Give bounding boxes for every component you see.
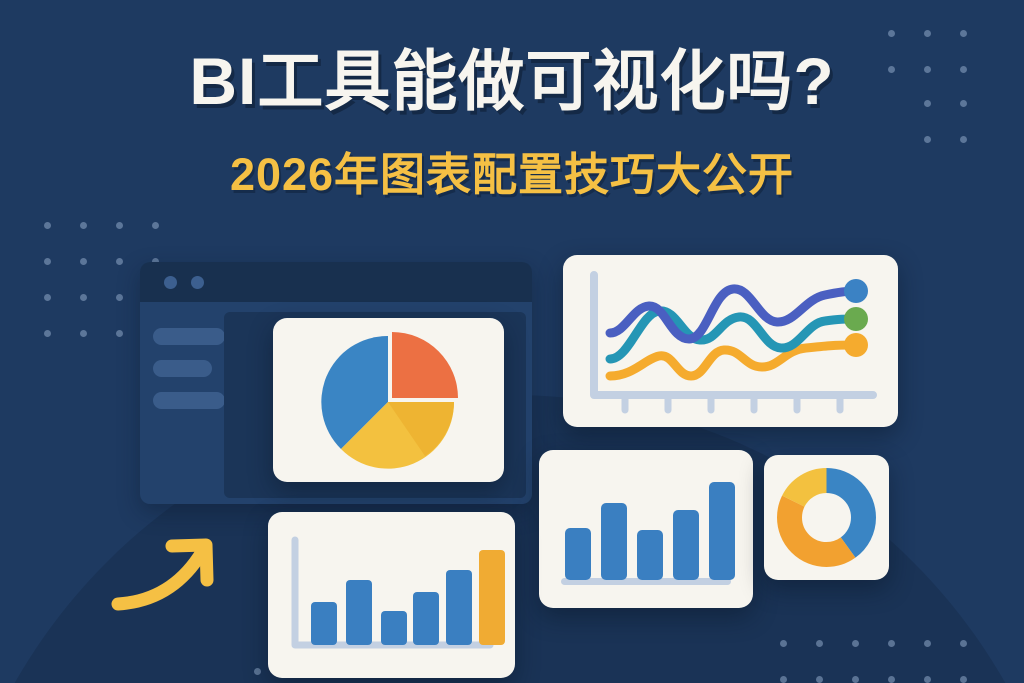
bar bbox=[637, 530, 663, 580]
chart-xticks bbox=[625, 398, 840, 410]
decor-dot bbox=[80, 294, 87, 301]
bar bbox=[673, 510, 699, 580]
decor-dot bbox=[924, 640, 931, 647]
sidebar-placeholder-line bbox=[153, 328, 225, 345]
donut-chart bbox=[764, 455, 889, 580]
window-dot-icon bbox=[164, 276, 177, 289]
bar-highlighted bbox=[479, 550, 505, 645]
decor-dot bbox=[80, 258, 87, 265]
arrow-shaft bbox=[118, 552, 202, 604]
decor-dot bbox=[116, 330, 123, 337]
decor-dot bbox=[116, 222, 123, 229]
bar bbox=[709, 482, 735, 580]
bar bbox=[346, 580, 372, 645]
decor-dot bbox=[80, 222, 87, 229]
headline-container: BI工具能做可视化吗? bbox=[0, 48, 1024, 114]
bar bbox=[311, 602, 337, 645]
bar bbox=[446, 570, 472, 645]
page-subtitle: 2026年图表配置技巧大公开 bbox=[0, 152, 1024, 197]
growth-arrow bbox=[110, 518, 230, 618]
decor-dot bbox=[44, 330, 51, 337]
pie-chart bbox=[273, 318, 504, 482]
decor-dot bbox=[852, 676, 859, 683]
pie-chart-card bbox=[273, 318, 504, 482]
bar-chart-bottom-left-card bbox=[268, 512, 515, 678]
decor-dot bbox=[116, 258, 123, 265]
line-endpoint-blue bbox=[844, 279, 868, 303]
decor-dot bbox=[816, 676, 823, 683]
decor-dot bbox=[780, 676, 787, 683]
decor-dot bbox=[44, 222, 51, 229]
decor-dot bbox=[80, 330, 87, 337]
bar bbox=[381, 611, 407, 645]
decor-dot bbox=[924, 30, 931, 37]
decor-dot bbox=[852, 640, 859, 647]
bar-chart-bottom-left bbox=[268, 512, 515, 678]
decor-dot bbox=[780, 640, 787, 647]
pie-slice-orange bbox=[392, 332, 458, 398]
decor-dot bbox=[44, 294, 51, 301]
decor-dot bbox=[960, 676, 967, 683]
decor-dot bbox=[44, 258, 51, 265]
bar bbox=[413, 592, 439, 645]
sidebar-placeholder-line bbox=[153, 360, 212, 377]
window-dot-icon bbox=[191, 276, 204, 289]
poster-canvas: BI工具能做可视化吗? 2026年图表配置技巧大公开 bbox=[0, 0, 1024, 683]
decor-dot bbox=[254, 668, 261, 675]
decor-dot bbox=[816, 640, 823, 647]
window-sidebar bbox=[140, 302, 220, 504]
window-titlebar bbox=[140, 262, 532, 302]
decor-dot bbox=[888, 30, 895, 37]
line-series-amber bbox=[610, 345, 853, 376]
decor-dot bbox=[152, 222, 159, 229]
line-endpoint-green bbox=[844, 307, 868, 331]
growth-arrow-icon bbox=[110, 518, 230, 618]
bar bbox=[601, 503, 627, 580]
decor-dot bbox=[960, 30, 967, 37]
decor-dot bbox=[924, 676, 931, 683]
decor-dot bbox=[888, 676, 895, 683]
line-chart bbox=[563, 255, 898, 427]
bar-chart-middle-card bbox=[539, 450, 753, 608]
subheadline-container: 2026年图表配置技巧大公开 bbox=[0, 152, 1024, 197]
bar-chart-middle bbox=[539, 450, 753, 608]
dot-grid-bottom-right bbox=[780, 640, 996, 683]
line-endpoint-amber bbox=[844, 333, 868, 357]
decor-dot bbox=[888, 640, 895, 647]
donut-chart-card bbox=[764, 455, 889, 580]
decor-dot bbox=[960, 136, 967, 143]
bar bbox=[565, 528, 591, 580]
page-title: BI工具能做可视化吗? bbox=[0, 48, 1024, 114]
decor-dot bbox=[960, 640, 967, 647]
decor-dot bbox=[924, 136, 931, 143]
sidebar-placeholder-line bbox=[153, 392, 225, 409]
line-chart-card bbox=[563, 255, 898, 427]
decor-dot bbox=[116, 294, 123, 301]
